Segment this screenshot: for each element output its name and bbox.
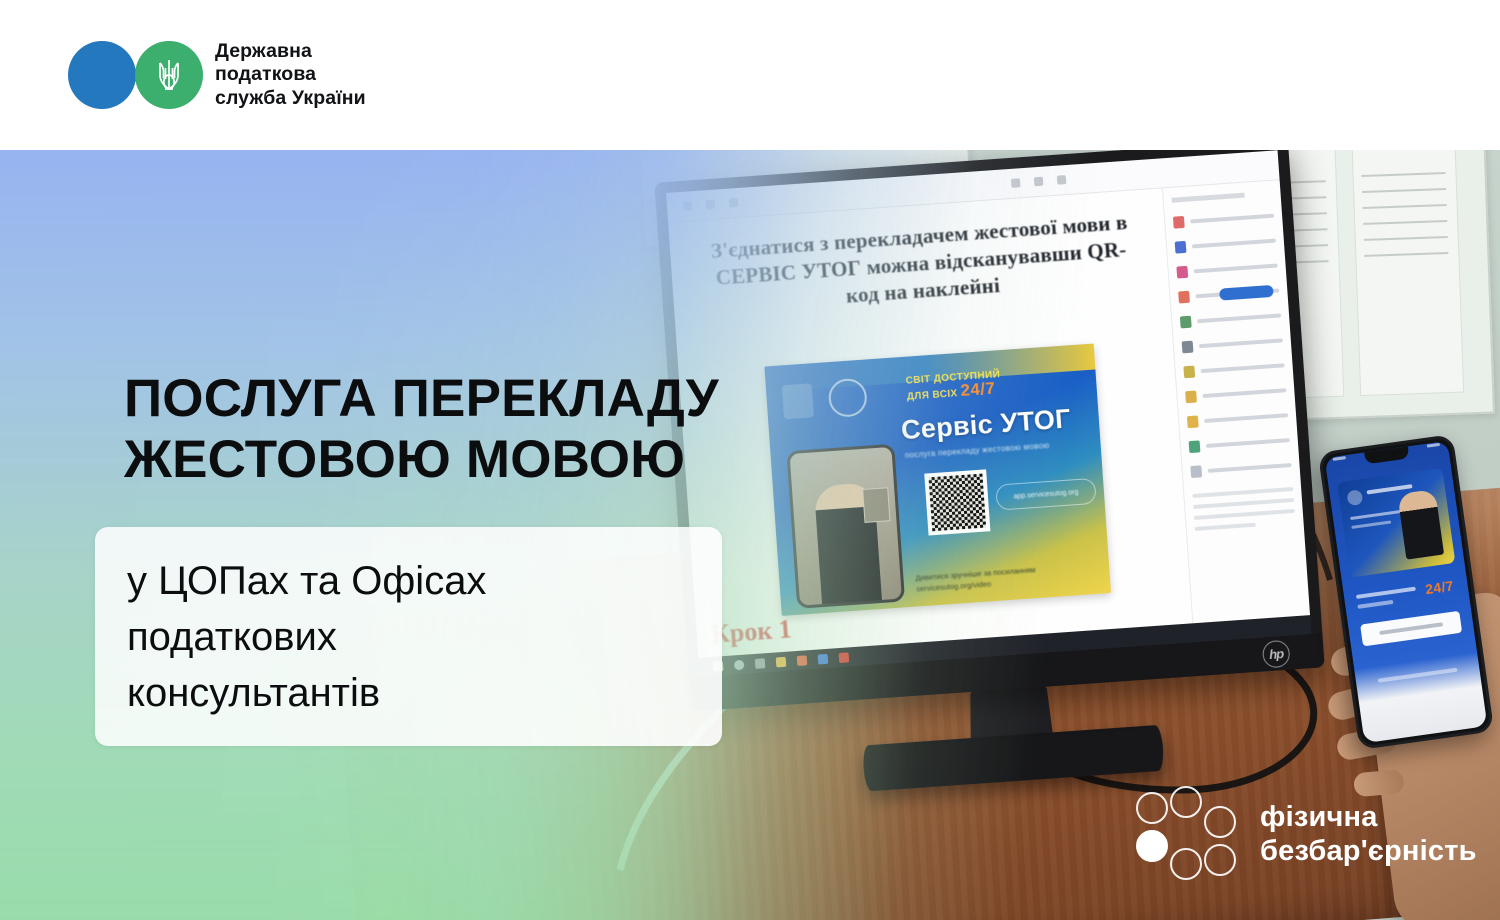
monitor-bezel: З'єднатися з перекладачем жестової мови … bbox=[654, 150, 1324, 712]
phone-notch bbox=[1364, 446, 1409, 464]
poster-emblem-icon bbox=[782, 383, 814, 419]
sidebar-item[interactable] bbox=[1185, 384, 1287, 403]
qr-url: app.servicesutog.org bbox=[996, 479, 1095, 510]
qr-url-pill: app.servicesutog.org bbox=[995, 478, 1097, 511]
sidebar-badge bbox=[1219, 285, 1274, 301]
qr-code bbox=[924, 469, 990, 535]
sidebar-item[interactable] bbox=[1182, 334, 1284, 353]
utog-poster: СВІТ ДОСТУПНИЙ ДЛЯ ВСІХ 24/7 Сервіс УТОГ… bbox=[764, 344, 1111, 616]
hp-logo-icon: hp bbox=[1262, 639, 1291, 668]
list-icon bbox=[1190, 465, 1202, 478]
phone-247-badge: 24/7 bbox=[1424, 577, 1454, 597]
dot-1 bbox=[1170, 786, 1202, 818]
app-avatar bbox=[1346, 489, 1363, 506]
interpreter-thumbnail bbox=[1397, 489, 1444, 560]
app-icon[interactable] bbox=[839, 652, 850, 663]
list-icon bbox=[1173, 216, 1185, 229]
dot-6 bbox=[1136, 792, 1168, 824]
screen-heading: З'єднатися з перекладачем жестової мови … bbox=[699, 208, 1143, 319]
hp-monitor: З'єднатися з перекладачем жестової мови … bbox=[654, 150, 1324, 712]
header-bar: Державна податкова служба України bbox=[0, 0, 1500, 150]
list-icon bbox=[1182, 341, 1194, 354]
dot-4 bbox=[1170, 848, 1202, 880]
ukraine-trident-icon bbox=[135, 41, 203, 109]
sidebar-item[interactable] bbox=[1176, 260, 1278, 279]
page-title: ПОСЛУГА ПЕРЕКЛАДУ ЖЕСТОВОЮ МОВОЮ bbox=[124, 368, 719, 490]
logo-blue-circle bbox=[68, 41, 136, 109]
promo-poster: Державна податкова служба України bbox=[0, 0, 1500, 920]
list-icon bbox=[1176, 266, 1188, 279]
sidebar-item[interactable] bbox=[1187, 409, 1289, 428]
app-banner bbox=[1337, 468, 1455, 578]
poster-footer: Дивитися зручніше за посиланням services… bbox=[915, 560, 1100, 595]
dot-3 bbox=[1204, 844, 1236, 876]
sidebar-item[interactable] bbox=[1189, 434, 1291, 453]
list-icon bbox=[1175, 241, 1187, 254]
taskview-icon[interactable] bbox=[755, 658, 766, 669]
accessibility-label: фізична безбар'єрність bbox=[1260, 800, 1477, 868]
subtitle-card: у ЦОПах та Офісах податкових консультант… bbox=[95, 527, 722, 746]
sidebar-item-selected[interactable] bbox=[1178, 284, 1280, 303]
list-icon bbox=[1189, 440, 1201, 453]
search-icon[interactable] bbox=[734, 659, 745, 670]
poster-title: Сервіс УТОГ bbox=[900, 403, 1072, 446]
toolbar-icon[interactable] bbox=[706, 200, 716, 210]
app-icon[interactable] bbox=[818, 653, 829, 664]
dot-2 bbox=[1204, 806, 1236, 838]
sidebar-item[interactable] bbox=[1173, 210, 1275, 229]
monitor-screen: З'єднатися з перекладачем жестової мови … bbox=[666, 150, 1311, 677]
org-name: Державна податкова служба України bbox=[215, 40, 366, 111]
phone-action-button[interactable] bbox=[1360, 611, 1462, 647]
video-pip bbox=[862, 487, 890, 523]
document-body: З'єднатися з перекладачем жестової мови … bbox=[668, 188, 1194, 676]
toolbar-icon[interactable] bbox=[683, 201, 693, 211]
dot-5-filled bbox=[1136, 830, 1168, 862]
poster-phone-mockup bbox=[786, 444, 905, 609]
sidebar-item[interactable] bbox=[1175, 235, 1277, 254]
app-icon[interactable] bbox=[797, 655, 808, 666]
search-icon[interactable] bbox=[1011, 178, 1021, 188]
toolbar-icon[interactable] bbox=[729, 198, 739, 208]
list-icon bbox=[1178, 291, 1190, 304]
list-icon bbox=[1187, 415, 1199, 428]
list-icon bbox=[1185, 391, 1197, 404]
sidebar-heading bbox=[1172, 193, 1245, 203]
toolbar-icon[interactable] bbox=[1034, 177, 1044, 187]
sidebar-text-block bbox=[1192, 487, 1295, 531]
accessibility-dots-icon bbox=[1134, 786, 1238, 882]
sidebar-item[interactable] bbox=[1183, 359, 1285, 378]
step-label: Крок 1 bbox=[710, 614, 793, 650]
subtitle-text: у ЦОПах та Офісах податкових консультант… bbox=[127, 553, 704, 721]
explorer-icon[interactable] bbox=[776, 656, 787, 667]
list-icon bbox=[1183, 366, 1195, 379]
tax-service-logo bbox=[68, 41, 203, 109]
accessibility-logo: фізична безбар'єрність bbox=[1134, 786, 1477, 882]
toolbar-icon[interactable] bbox=[1057, 175, 1067, 185]
list-icon bbox=[1180, 316, 1192, 329]
sidebar-item[interactable] bbox=[1190, 459, 1292, 478]
sidebar-item[interactable] bbox=[1180, 309, 1282, 328]
